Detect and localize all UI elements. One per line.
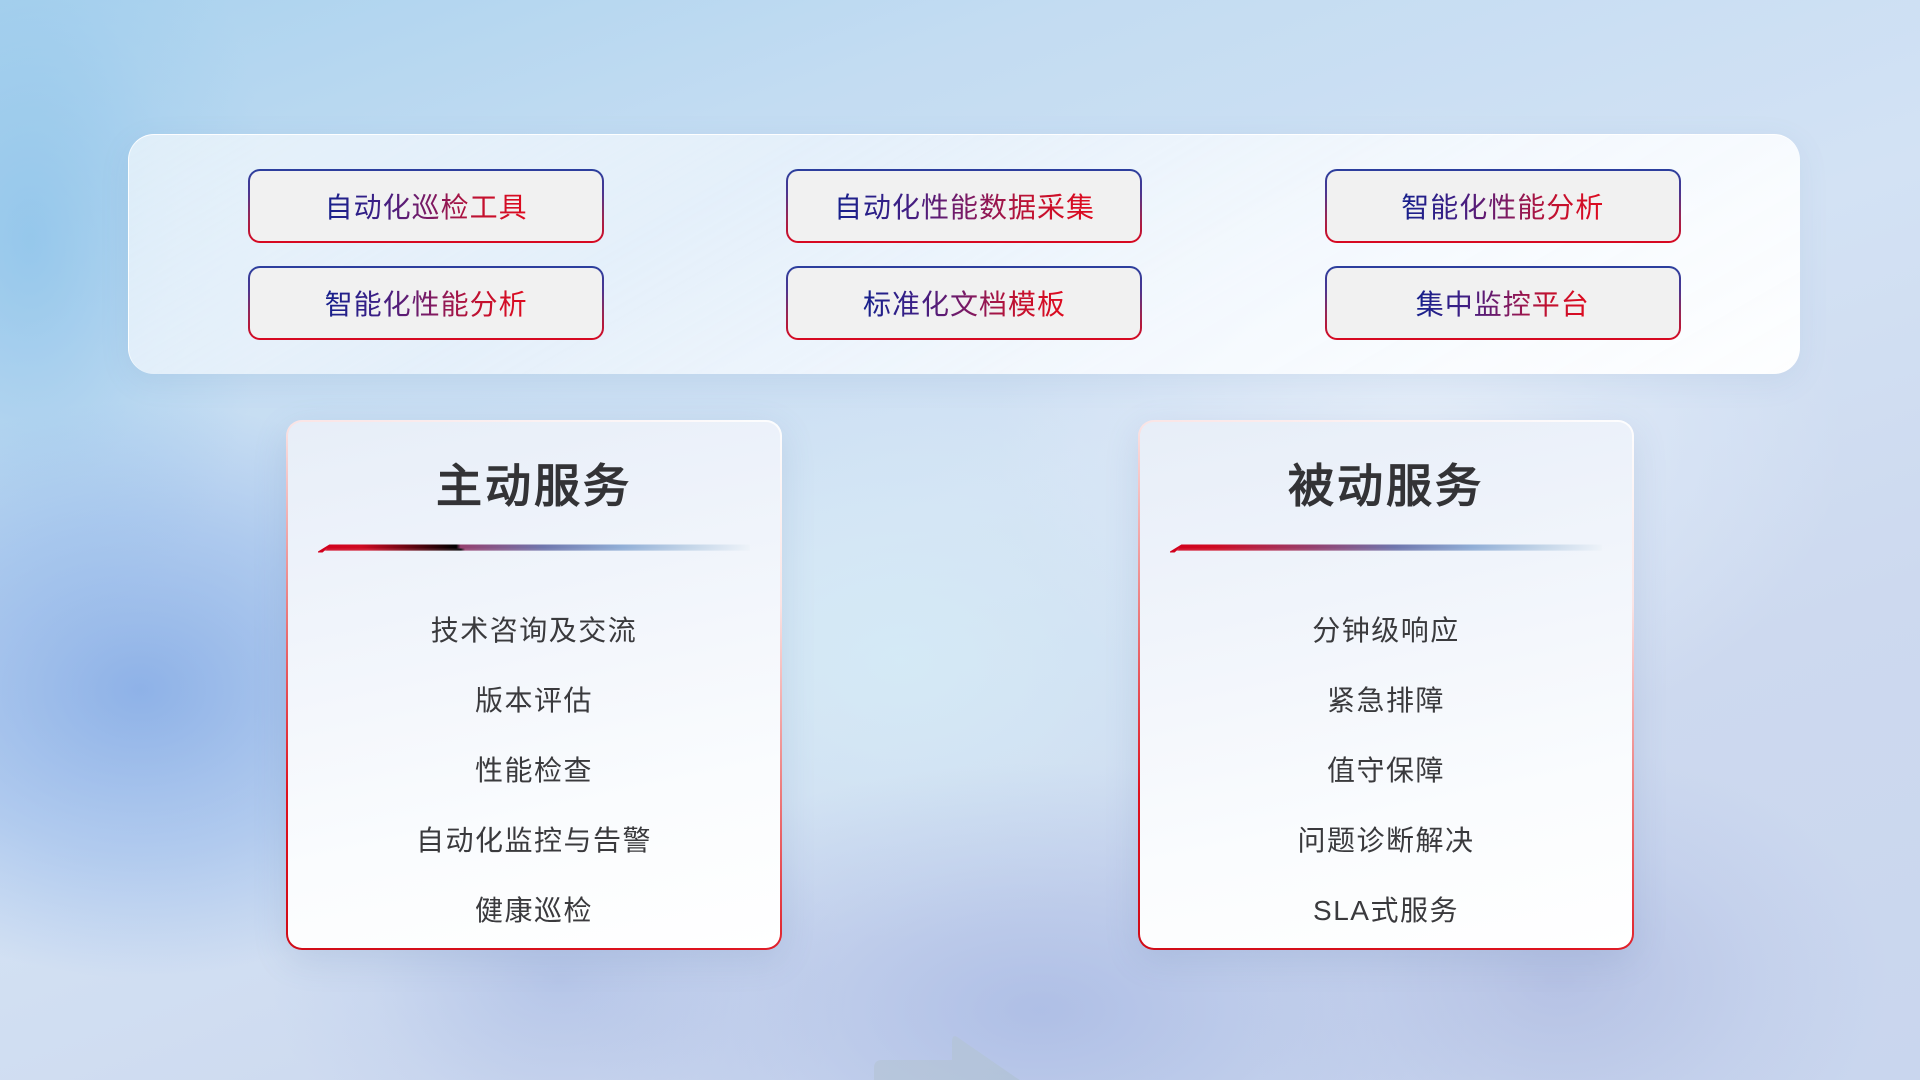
capability-tag-label: 自动化性能数据采集	[834, 186, 1095, 226]
service-item: 性能检查	[475, 736, 593, 806]
service-item: 技术咨询及交流	[431, 596, 638, 666]
service-card-reactive[interactable]: 被动服务	[1138, 420, 1634, 950]
capability-tag-6[interactable]: 集中监控平台	[1325, 266, 1681, 340]
capability-panel: 自动化巡检工具 自动化性能数据采集 智能化性能分析 智能化性能分析 标准化文档模…	[128, 134, 1800, 374]
service-item: 分钟级响应	[1312, 596, 1460, 666]
capability-tag-1[interactable]: 自动化巡检工具	[248, 169, 604, 243]
service-item: SLA式服务	[1313, 876, 1459, 946]
service-item: 健康巡检	[475, 876, 593, 946]
service-item: 自动化监控与告警	[416, 806, 652, 876]
service-item: 紧急排障	[1327, 666, 1445, 736]
service-item-list: 技术咨询及交流 版本评估 性能检查 自动化监控与告警 健康巡检	[318, 596, 750, 946]
service-card-title: 被动服务	[1288, 458, 1484, 516]
arrow-right-icon	[868, 1030, 1032, 1080]
service-card-title: 主动服务	[436, 458, 632, 516]
service-cards-row: 主动服务	[0, 420, 1920, 980]
service-item: 问题诊断解决	[1297, 806, 1474, 876]
service-item: 值守保障	[1327, 736, 1445, 806]
capability-tag-label: 集中监控平台	[1416, 283, 1590, 323]
capability-tag-5[interactable]: 标准化文档模板	[786, 266, 1142, 340]
capability-tag-label: 标准化文档模板	[863, 283, 1066, 323]
service-card-proactive[interactable]: 主动服务	[286, 420, 782, 950]
service-item-list: 分钟级响应 紧急排障 值守保障 问题诊断解决 SLA式服务	[1170, 596, 1602, 946]
capability-tag-label: 自动化巡检工具	[325, 186, 528, 226]
title-divider	[318, 540, 750, 562]
service-item: 版本评估	[475, 666, 593, 736]
title-divider	[1170, 540, 1602, 562]
capability-tag-2[interactable]: 自动化性能数据采集	[786, 169, 1142, 243]
capability-tag-label: 智能化性能分析	[1401, 186, 1604, 226]
capability-tag-3[interactable]: 智能化性能分析	[1325, 169, 1681, 243]
capability-tag-label: 智能化性能分析	[325, 283, 528, 323]
capability-tag-4[interactable]: 智能化性能分析	[248, 266, 604, 340]
